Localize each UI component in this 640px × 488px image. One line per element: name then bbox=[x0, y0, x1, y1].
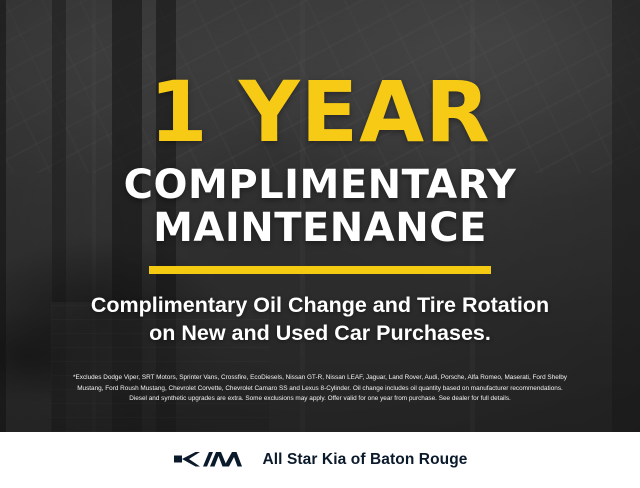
headline-year: 1 YEAR bbox=[149, 76, 491, 150]
disclaimer-line-3: Diesel and synthetic upgrades are extra.… bbox=[13, 394, 627, 404]
promo-line-1: Complimentary Oil Change and Tire Rotati… bbox=[91, 293, 549, 317]
disclaimer-text: *Excludes Dodge Viper, SRT Motors, Sprin… bbox=[13, 373, 627, 404]
hero-section: 1 YEAR COMPLIMENTARY MAINTENANCE Complim… bbox=[0, 0, 640, 432]
headline-line-maintenance: MAINTENANCE bbox=[124, 207, 517, 250]
kia-logo-icon bbox=[172, 450, 244, 470]
disclaimer-line-2: Mustang, Ford Roush Mustang, Chevrolet C… bbox=[13, 384, 627, 394]
disclaimer-line-1: *Excludes Dodge Viper, SRT Motors, Sprin… bbox=[13, 373, 627, 383]
promo-text: Complimentary Oil Change and Tire Rotati… bbox=[91, 291, 549, 348]
headline-line-complimentary: COMPLIMENTARY bbox=[124, 162, 517, 208]
hero-content: 1 YEAR COMPLIMENTARY MAINTENANCE Complim… bbox=[0, 0, 640, 432]
footer-bar: All Star Kia of Baton Rouge bbox=[0, 432, 640, 488]
dealer-name: All Star Kia of Baton Rouge bbox=[262, 451, 467, 469]
promo-line-2: on New and Used Car Purchases. bbox=[91, 319, 549, 347]
headline-subtitle: COMPLIMENTARY MAINTENANCE bbox=[124, 164, 517, 250]
promo-banner: 1 YEAR COMPLIMENTARY MAINTENANCE Complim… bbox=[0, 0, 640, 488]
yellow-divider-bar bbox=[149, 266, 491, 274]
